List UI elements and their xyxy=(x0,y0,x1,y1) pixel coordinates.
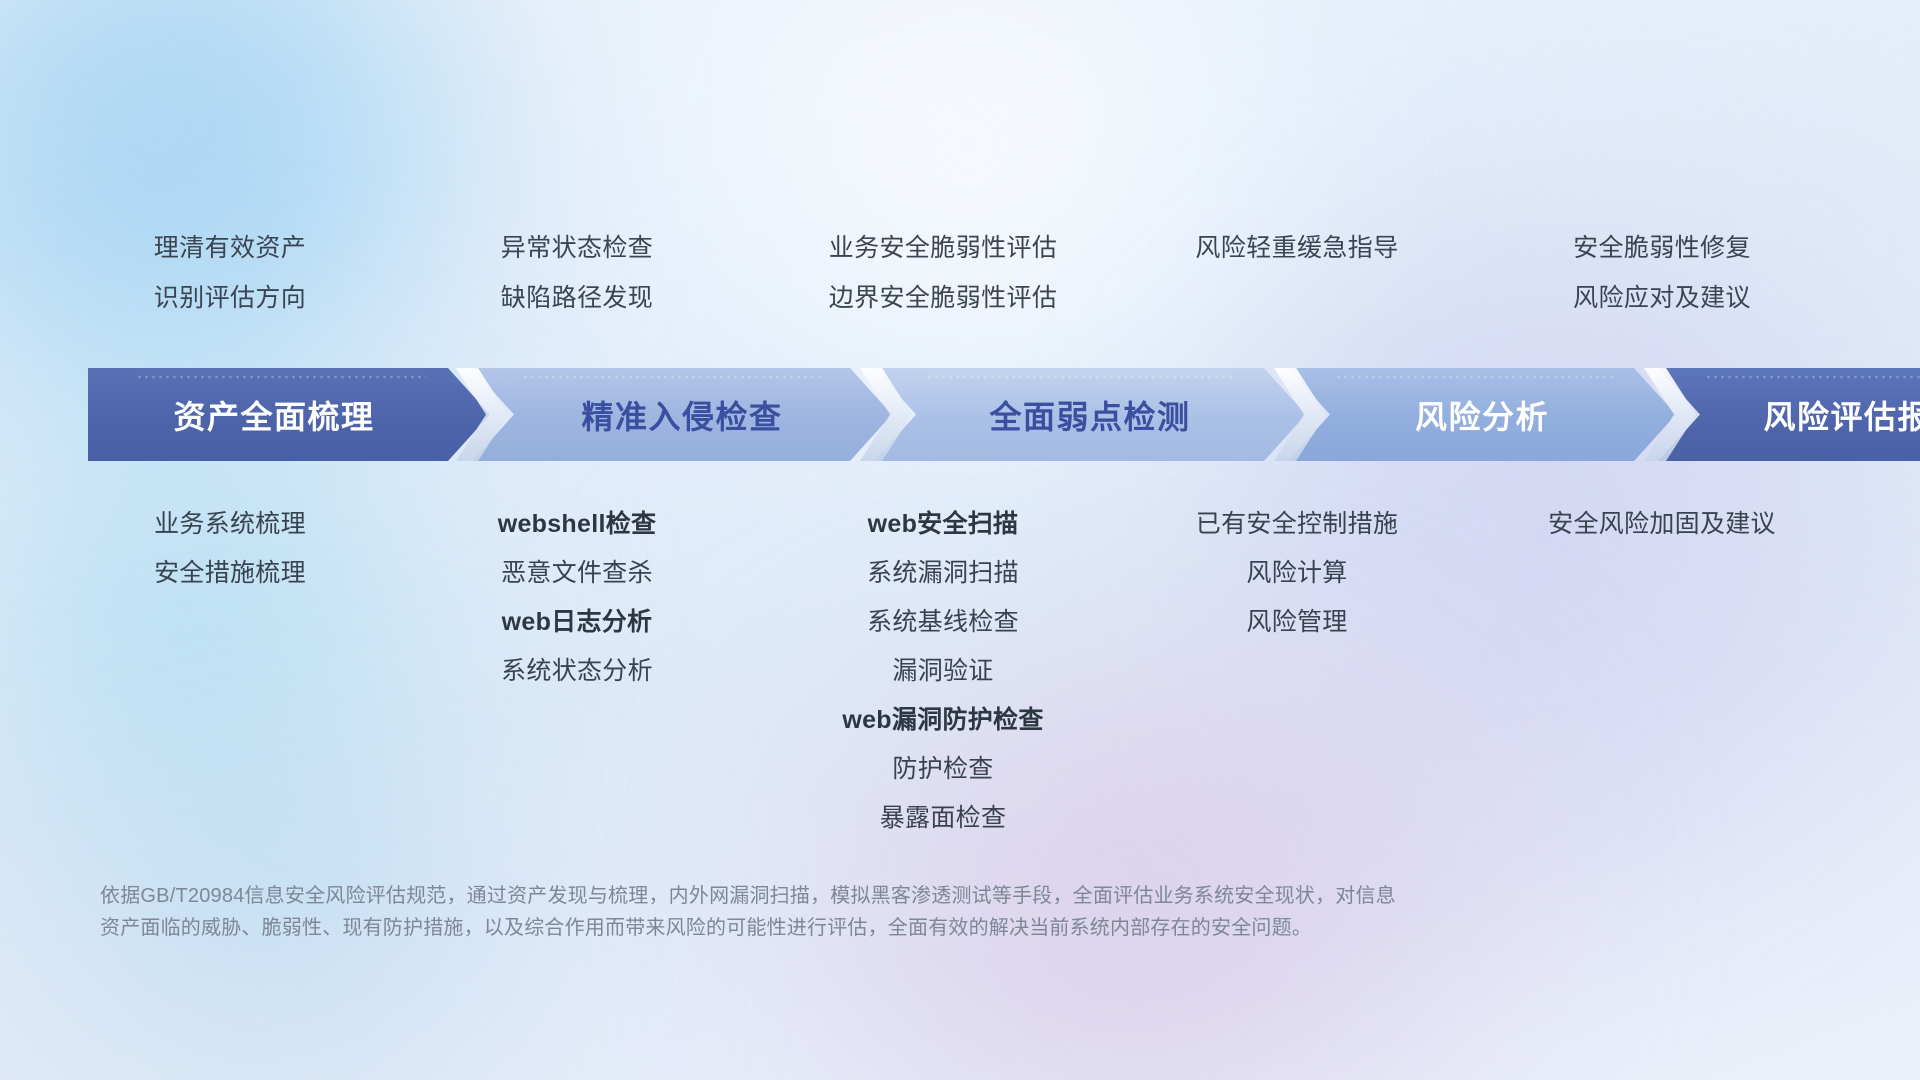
top-label-stage4-line1: 风险轻重缓急指导 xyxy=(1195,236,1398,261)
list-item: 系统基线检查 xyxy=(842,598,1043,647)
list-item: 防护检查 xyxy=(842,745,1043,794)
top-label-stage3-line2: 边界安全脆弱性评估 xyxy=(829,286,1058,311)
detail-list-asset-inventory: 业务系统梳理 安全措施梳理 xyxy=(154,500,306,598)
list-item: 系统漏洞扫描 xyxy=(842,549,1043,598)
stage-chevron-asset-inventory[interactable]: 资产全面梳理 xyxy=(88,368,490,461)
stage-chevron-risk-report[interactable]: 风险评估报告 xyxy=(1658,368,1920,461)
top-label-stage1-line2: 识别评估方向 xyxy=(154,286,306,311)
footer-line-2: 资产面临的威胁、脆弱性、现有防护措施，以及综合作用而带来风险的可能性进行评估，全… xyxy=(100,912,1610,944)
detail-list-weakness-detection: web安全扫描 系统漏洞扫描 系统基线检查 漏洞验证 web漏洞防护检查 防护检… xyxy=(842,500,1043,843)
list-item: 风险计算 xyxy=(1196,549,1398,598)
list-item: webshell检查 xyxy=(498,500,657,549)
list-item: 风险管理 xyxy=(1196,598,1398,647)
detail-list-intrusion-check: webshell检查 恶意文件查杀 web日志分析 系统状态分析 xyxy=(498,500,657,696)
stage-chevron-risk-analysis[interactable]: 风险分析 xyxy=(1288,368,1676,461)
list-item: 安全风险加固及建议 xyxy=(1548,500,1776,549)
bottom-detail-lists: 业务系统梳理 安全措施梳理 webshell检查 恶意文件查杀 web日志分析 … xyxy=(0,500,1920,820)
process-flow-diagram: 理清有效资产 异常状态检查 业务安全脆弱性评估 风险轻重缓急指导 安全脆弱性修复… xyxy=(0,0,1920,1080)
stage-chevron-label: 全面弱点检测 xyxy=(989,392,1190,438)
stage-chevron-label: 风险分析 xyxy=(1415,392,1549,438)
stage-chevron-weakness-detection[interactable]: 全面弱点检测 xyxy=(874,368,1306,461)
footer-line-1: 依据GB/T20984信息安全风险评估规范，通过资产发现与梳理，内外网漏洞扫描，… xyxy=(100,880,1610,912)
stage-chevron-label: 风险评估报告 xyxy=(1763,392,1920,438)
list-item: 暴露面检查 xyxy=(842,794,1043,843)
top-label-stage2-line2: 缺陷路径发现 xyxy=(501,286,653,311)
stage-chevron-band: 资产全面梳理 精准入侵检查 全面弱点检测 风险分析 风险评估报告 xyxy=(88,368,1850,461)
list-item: 已有安全控制措施 xyxy=(1196,500,1398,549)
list-item: web漏洞防护检查 xyxy=(842,696,1043,745)
list-item: 系统状态分析 xyxy=(498,647,657,696)
list-item: 恶意文件查杀 xyxy=(498,549,657,598)
detail-list-risk-analysis: 已有安全控制措施 风险计算 风险管理 xyxy=(1196,500,1398,647)
top-label-stage2-line1: 异常状态检查 xyxy=(501,236,653,261)
stage-chevron-intrusion-check[interactable]: 精准入侵检查 xyxy=(472,368,892,461)
top-label-stage5-line2: 风险应对及建议 xyxy=(1573,286,1751,311)
detail-list-risk-report: 安全风险加固及建议 xyxy=(1548,500,1776,549)
top-label-stage1-line1: 理清有效资产 xyxy=(154,236,306,261)
top-label-stage5-line1: 安全脆弱性修复 xyxy=(1573,236,1751,261)
list-item: 安全措施梳理 xyxy=(154,549,306,598)
top-label-stage3-line1: 业务安全脆弱性评估 xyxy=(829,236,1058,261)
stage-chevron-label: 资产全面梳理 xyxy=(173,392,374,438)
list-item: web安全扫描 xyxy=(842,500,1043,549)
list-item: 漏洞验证 xyxy=(842,647,1043,696)
list-item: 业务系统梳理 xyxy=(154,500,306,549)
list-item: web日志分析 xyxy=(498,598,657,647)
footer-description: 依据GB/T20984信息安全风险评估规范，通过资产发现与梳理，内外网漏洞扫描，… xyxy=(100,880,1610,944)
stage-chevron-label: 精准入侵检查 xyxy=(581,392,782,438)
